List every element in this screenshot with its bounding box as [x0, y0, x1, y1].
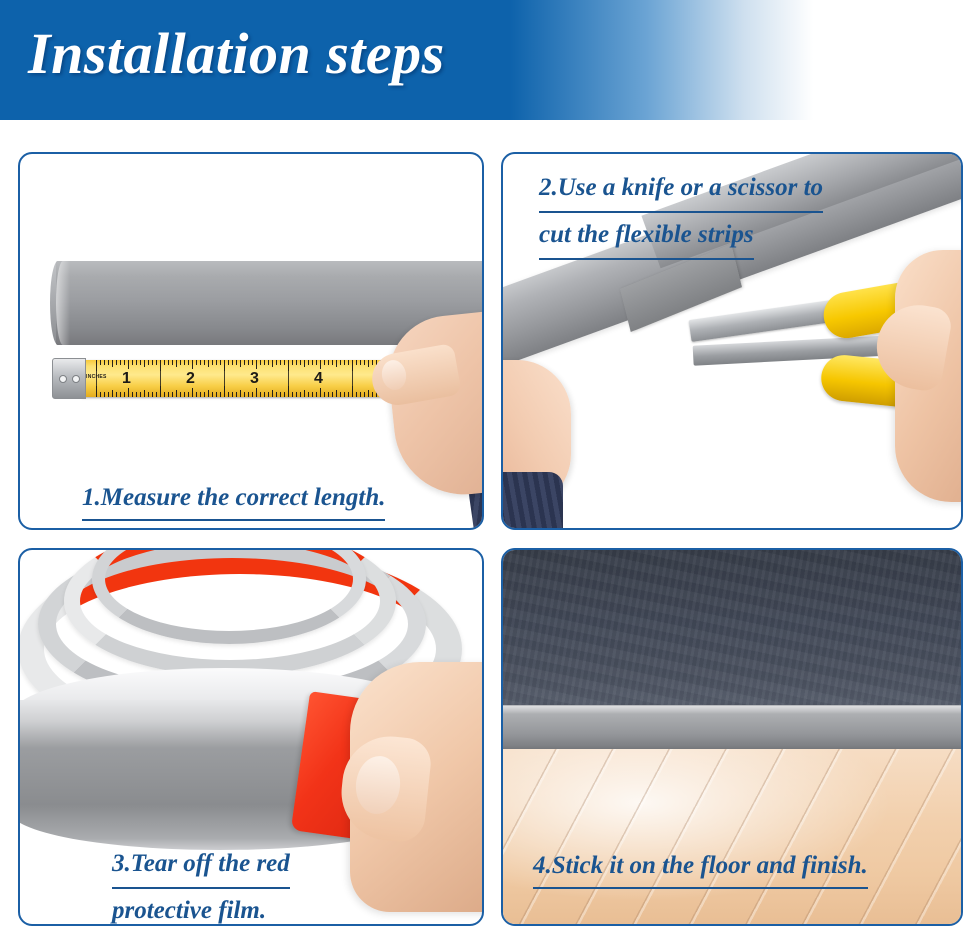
tape-tick	[260, 360, 261, 365]
tape-tick	[100, 392, 101, 397]
tape-tick	[264, 360, 265, 365]
step-3-caption: 3.Tear off the red protective film.	[112, 842, 432, 926]
tape-measure: INCHES 1 2 3 4 5	[38, 360, 410, 397]
step-1-caption-text: 1.Measure the correct length.	[82, 478, 385, 521]
tape-tick	[164, 392, 165, 397]
tape-tick	[212, 392, 213, 397]
step-4-caption: 4.Stick it on the floor and finish.	[533, 846, 868, 889]
tape-tick	[240, 390, 241, 397]
tape-tick	[264, 392, 265, 397]
tape-tick	[308, 392, 309, 397]
tape-tick	[220, 360, 221, 365]
tape-tick	[276, 360, 277, 365]
tape-tick	[100, 360, 101, 365]
tape-tick	[292, 392, 293, 397]
step-3-caption-line-1: 3.Tear off the red	[112, 842, 290, 889]
tape-tick	[276, 392, 277, 397]
tape-tick	[104, 360, 105, 365]
tape-tick	[220, 392, 221, 397]
tape-tick	[172, 360, 173, 365]
step-2-caption: 2.Use a knife or a scissor to cut the fl…	[539, 166, 939, 260]
tape-tick	[340, 360, 341, 365]
tape-tick	[104, 392, 105, 397]
tape-tick	[144, 360, 145, 367]
tape-tick	[300, 392, 301, 397]
tape-tick	[132, 360, 133, 365]
tape-tick	[168, 392, 169, 397]
tape-tick	[356, 392, 357, 397]
tape-tick	[244, 360, 245, 365]
tape-major-tick	[160, 360, 161, 397]
tape-tick	[308, 360, 309, 365]
tape-tick	[296, 360, 297, 365]
tape-number-2: 2	[186, 370, 195, 388]
tape-tick	[312, 392, 313, 397]
tape-tick	[296, 392, 297, 397]
tape-tick	[320, 360, 321, 369]
tape-tick	[316, 392, 317, 397]
step-2-caption-line-2: cut the flexible strips	[539, 213, 754, 260]
installation-steps-infographic: Installation steps INCHES 1 2 3 4 5 1.Me…	[0, 0, 980, 943]
tape-tick	[188, 392, 189, 397]
tape-tick	[256, 388, 257, 397]
tape-hook-end	[52, 358, 86, 399]
tape-tick	[284, 392, 285, 397]
tape-major-tick	[352, 360, 353, 397]
step-panel-3: 3.Tear off the red protective film.	[18, 548, 484, 926]
step-panel-1: INCHES 1 2 3 4 5 1.Measure the correct l…	[18, 152, 484, 530]
tape-tick	[232, 360, 233, 365]
tape-tick	[112, 390, 113, 397]
tape-tick	[292, 360, 293, 365]
tape-major-tick	[288, 360, 289, 397]
tape-tick	[144, 390, 145, 397]
tape-tick	[360, 392, 361, 397]
tape-tick	[164, 360, 165, 365]
step-4-caption-text: 4.Stick it on the floor and finish.	[533, 846, 868, 889]
tape-number-1: 1	[122, 370, 131, 388]
step-panel-4: 4.Stick it on the floor and finish.	[501, 548, 963, 926]
step-1-caption: 1.Measure the correct length.	[82, 478, 385, 521]
tape-tick	[128, 360, 129, 369]
tape-tick	[248, 392, 249, 397]
tape-tick	[240, 360, 241, 367]
tape-tick	[332, 392, 333, 397]
tape-tick	[252, 392, 253, 397]
tape-tick	[168, 360, 169, 365]
tape-tick	[324, 392, 325, 397]
tape-tick	[300, 360, 301, 365]
tape-tick	[124, 392, 125, 397]
tape-tick	[192, 360, 193, 369]
tape-blade	[82, 360, 410, 397]
tape-tick	[148, 392, 149, 397]
step-2-caption-line-1: 2.Use a knife or a scissor to	[539, 166, 823, 213]
tape-tick	[304, 390, 305, 397]
tape-tick	[156, 360, 157, 365]
tape-tick	[192, 388, 193, 397]
tape-tick	[184, 360, 185, 365]
tape-tick	[364, 360, 365, 365]
tape-tick	[180, 392, 181, 397]
tape-tick	[316, 360, 317, 365]
tape-tick	[188, 360, 189, 365]
tape-tick	[328, 360, 329, 365]
installed-gray-molding	[503, 705, 961, 751]
tape-tick	[228, 360, 229, 365]
tape-tick	[152, 392, 153, 397]
tape-tick	[280, 360, 281, 365]
page-title: Installation steps	[28, 20, 445, 87]
tape-tick	[108, 392, 109, 397]
tape-tick	[260, 392, 261, 397]
tape-tick	[252, 360, 253, 365]
tape-major-tick	[224, 360, 225, 397]
tape-tick	[196, 392, 197, 397]
tape-tick	[228, 392, 229, 397]
tape-tick	[136, 392, 137, 397]
tape-tick	[272, 390, 273, 397]
tape-tick	[212, 360, 213, 365]
tape-tick	[372, 360, 373, 365]
tape-tick	[348, 360, 349, 365]
tape-tick	[328, 392, 329, 397]
tape-tick	[272, 360, 273, 367]
tape-tick	[132, 392, 133, 397]
tape-tick	[208, 390, 209, 397]
tape-tick	[368, 360, 369, 367]
tape-tick	[204, 360, 205, 365]
tape-tick	[236, 360, 237, 365]
tape-tick	[120, 392, 121, 397]
dark-wall	[503, 550, 961, 708]
tape-tick	[356, 360, 357, 365]
header-banner: Installation steps	[0, 0, 980, 120]
tape-tick	[156, 392, 157, 397]
tape-tick	[236, 392, 237, 397]
tape-tick	[124, 360, 125, 365]
tape-tick	[148, 360, 149, 365]
tape-tick	[372, 392, 373, 397]
tape-tick	[136, 360, 137, 365]
tape-tick	[204, 392, 205, 397]
tape-tick	[268, 360, 269, 365]
tape-tick	[348, 392, 349, 397]
wooden-floor	[503, 749, 961, 926]
tape-tick	[244, 392, 245, 397]
tape-tick	[232, 392, 233, 397]
tape-tick	[216, 360, 217, 365]
tape-tick	[152, 360, 153, 365]
tape-number-3: 3	[250, 370, 259, 388]
tape-number-4: 4	[314, 370, 323, 388]
tape-tick	[196, 360, 197, 365]
tape-tick	[112, 360, 113, 367]
tape-tick	[332, 360, 333, 365]
tape-tick	[116, 392, 117, 397]
tape-tick	[312, 360, 313, 365]
tape-tick	[320, 388, 321, 397]
tape-tick	[336, 360, 337, 367]
tape-tick	[172, 392, 173, 397]
tape-tick	[128, 388, 129, 397]
tape-tick	[176, 360, 177, 367]
tape-tick	[108, 360, 109, 365]
tape-tick	[248, 360, 249, 365]
tape-tick	[200, 392, 201, 397]
tape-tick	[344, 360, 345, 365]
tape-tick	[268, 392, 269, 397]
tape-tick	[200, 360, 201, 365]
tape-tick	[116, 360, 117, 365]
tape-tick	[324, 360, 325, 365]
tape-tick	[344, 392, 345, 397]
tape-tick	[216, 392, 217, 397]
tape-tick	[256, 360, 257, 369]
tape-tick-marks	[82, 360, 410, 397]
tape-tick	[368, 390, 369, 397]
tape-tick	[280, 392, 281, 397]
tape-tick	[360, 360, 361, 365]
tape-tick	[140, 360, 141, 365]
step-3-caption-line-2: protective film.	[112, 889, 266, 926]
tape-tick	[176, 390, 177, 397]
tape-tick	[340, 392, 341, 397]
tape-tick	[304, 360, 305, 367]
tape-tick	[364, 392, 365, 397]
tape-tick	[184, 392, 185, 397]
tape-tick	[336, 390, 337, 397]
tape-tick	[284, 360, 285, 365]
tape-tick	[208, 360, 209, 367]
sleeve	[501, 472, 563, 530]
tape-tick	[140, 392, 141, 397]
tape-tick	[180, 360, 181, 365]
tape-unit-label: INCHES	[86, 374, 107, 380]
tape-tick	[120, 360, 121, 365]
step-panel-2: 2.Use a knife or a scissor to cut the fl…	[501, 152, 963, 530]
